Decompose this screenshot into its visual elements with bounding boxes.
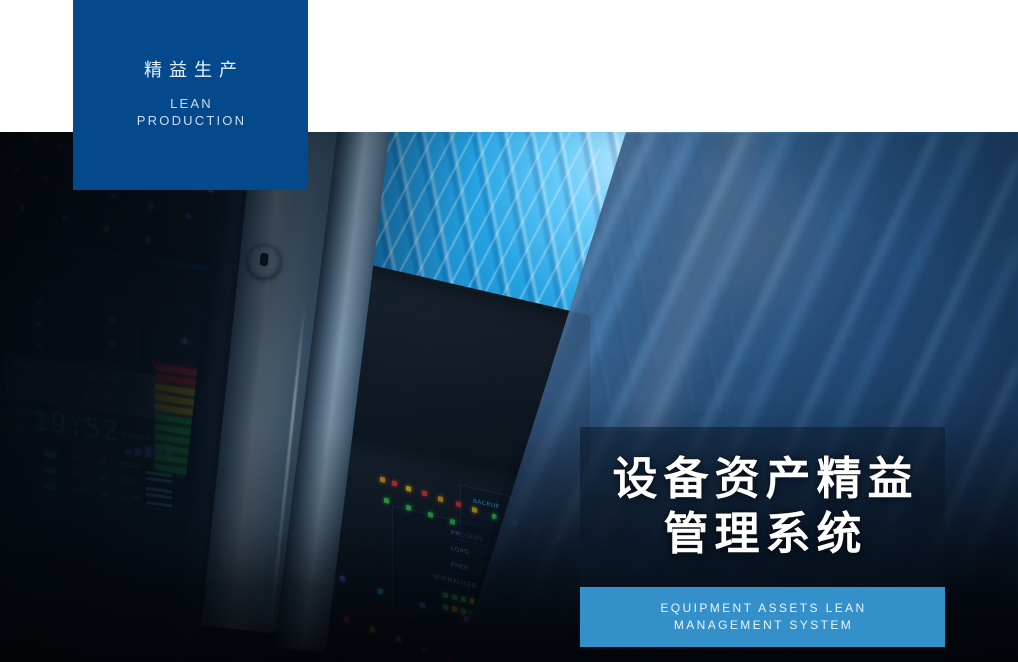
main-title-panel: 设备资产精益 管理系统 — [580, 427, 945, 587]
badge-en-line2: PRODUCTION — [135, 112, 246, 129]
subtitle-line2: MANAGEMENT SYSTEM — [672, 617, 853, 634]
lean-production-badge: 精益生产 LEAN PRODUCTION — [73, 0, 308, 190]
badge-en-line1: LEAN — [135, 95, 246, 112]
subtitle-line1: EQUIPMENT ASSETS LEAN — [658, 600, 866, 617]
main-title-line1: 设备资产精益 — [606, 452, 918, 507]
badge-cn-text: 精益生产 — [137, 61, 244, 79]
main-title-line2: 管理系统 — [657, 507, 867, 562]
poster-canvas: MEMORY 38M/1MB STATUS ONLINE BACKUP 84% … — [0, 0, 1018, 662]
subtitle-bar: EQUIPMENT ASSETS LEAN MANAGEMENT SYSTEM — [580, 587, 945, 647]
badge-en-text: LEAN PRODUCTION — [135, 95, 246, 129]
